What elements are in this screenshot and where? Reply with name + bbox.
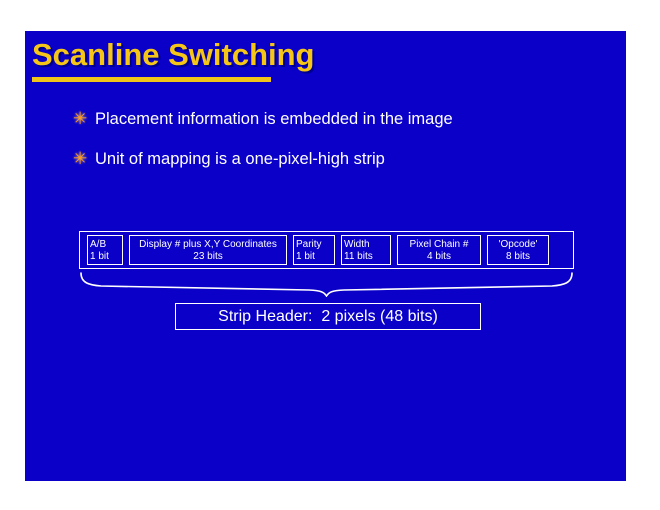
field-bits: 1 bit [296, 251, 332, 263]
list-item: ✳ Unit of mapping is a one-pixel-high st… [73, 148, 613, 170]
field-box-display-coordinates: Display # plus X,Y Coordinates 23 bits [129, 235, 287, 265]
field-bits: 11 bits [344, 251, 388, 263]
strip-header-caption-text: Strip Header: 2 pixels (48 bits) [218, 307, 438, 327]
field-bits: 8 bits [490, 251, 546, 263]
field-name: Pixel Chain # [400, 239, 478, 251]
field-name: Display # plus X,Y Coordinates [132, 239, 284, 251]
field-bits: 1 bit [90, 251, 120, 263]
field-box-pixel-chain: Pixel Chain # 4 bits [397, 235, 481, 265]
star-bullet-icon: ✳ [73, 148, 95, 170]
field-name: Parity [296, 239, 332, 251]
bullet-list: ✳ Placement information is embedded in t… [73, 108, 613, 188]
field-name: A/B [90, 239, 120, 251]
field-bits: 23 bits [132, 251, 284, 263]
star-bullet-icon: ✳ [73, 108, 95, 130]
strip-header-field-row: A/B 1 bit Display # plus X,Y Coordinates… [79, 231, 574, 269]
field-box-ab: A/B 1 bit [87, 235, 123, 265]
bullet-text: Placement information is embedded in the… [95, 108, 453, 130]
field-box-parity: Parity 1 bit [293, 235, 335, 265]
list-item: ✳ Placement information is embedded in t… [73, 108, 613, 130]
field-box-width: Width 11 bits [341, 235, 391, 265]
presentation-slide: Scanline Switching ✳ Placement informati… [25, 31, 626, 481]
field-name: 'Opcode' [490, 239, 546, 251]
title-block: Scanline Switching [32, 36, 592, 82]
field-box-opcode: 'Opcode' 8 bits [487, 235, 549, 265]
field-name: Width [344, 239, 388, 251]
page-title: Scanline Switching [32, 36, 592, 74]
title-underline-rule [32, 77, 271, 82]
strip-header-caption-box: Strip Header: 2 pixels (48 bits) [175, 303, 481, 330]
field-bits: 4 bits [400, 251, 478, 263]
curly-brace-icon [79, 271, 574, 297]
bullet-text: Unit of mapping is a one-pixel-high stri… [95, 148, 385, 170]
slide-page: Scanline Switching ✳ Placement informati… [0, 0, 660, 510]
